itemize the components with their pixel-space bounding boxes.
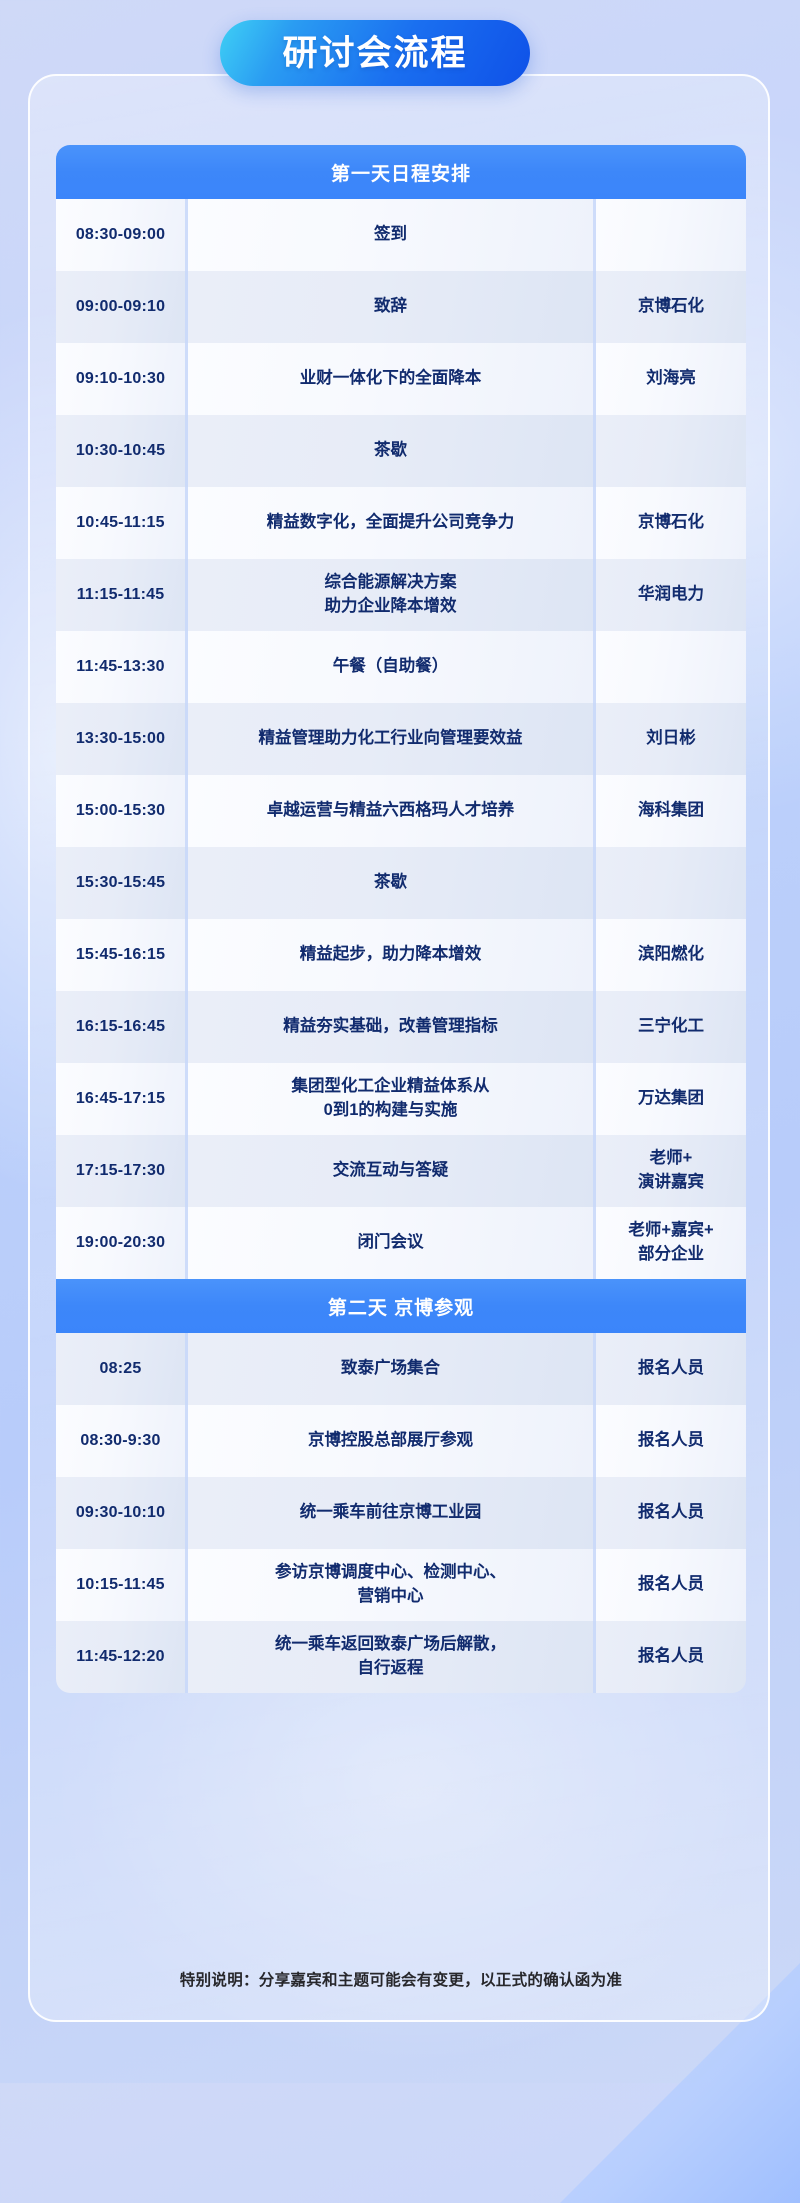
- schedule-table: 第一天日程安排08:30-09:00签到09:00-09:10致辞京博石化09:…: [56, 145, 746, 1693]
- cell-topic: 集团型化工企业精益体系从0到1的构建与实施: [188, 1063, 596, 1135]
- cell-speaker: 刘日彬: [596, 703, 746, 775]
- cell-time: 10:15-11:45: [56, 1549, 188, 1621]
- cell-topic: 京博控股总部展厅参观: [188, 1405, 596, 1477]
- cell-time: 19:00-20:30: [56, 1207, 188, 1279]
- cell-time: 09:00-09:10: [56, 271, 188, 343]
- cell-time: 09:30-10:10: [56, 1477, 188, 1549]
- cell-speaker: 三宁化工: [596, 991, 746, 1063]
- cell-topic: 闭门会议: [188, 1207, 596, 1279]
- cell-time: 15:30-15:45: [56, 847, 188, 919]
- table-row: 15:00-15:30卓越运营与精益六西格玛人才培养海科集团: [56, 775, 746, 847]
- cell-time: 10:30-10:45: [56, 415, 188, 487]
- cell-time: 09:10-10:30: [56, 343, 188, 415]
- footnote: 特别说明：分享嘉宾和主题可能会有变更，以正式的确认函为准: [56, 1968, 746, 1990]
- cell-topic: 统一乘车返回致泰广场后解散，自行返程: [188, 1621, 596, 1693]
- cell-time: 16:15-16:45: [56, 991, 188, 1063]
- table-row: 08:30-9:30京博控股总部展厅参观报名人员: [56, 1405, 746, 1477]
- cell-topic: 致辞: [188, 271, 596, 343]
- cell-time: 17:15-17:30: [56, 1135, 188, 1207]
- cell-time: 11:15-11:45: [56, 559, 188, 631]
- day-header-label: 第一天日程安排: [56, 145, 746, 199]
- cell-topic: 茶歇: [188, 415, 596, 487]
- cell-time: 15:45-16:15: [56, 919, 188, 991]
- cell-speaker: 万达集团: [596, 1063, 746, 1135]
- cell-speaker: 海科集团: [596, 775, 746, 847]
- table-row: 10:15-11:45参访京博调度中心、检测中心、营销中心报名人员: [56, 1549, 746, 1621]
- table-row: 11:45-13:30午餐（自助餐）: [56, 631, 746, 703]
- cell-time: 11:45-12:20: [56, 1621, 188, 1693]
- cell-topic: 统一乘车前往京博工业园: [188, 1477, 596, 1549]
- cell-speaker: 京博石化: [596, 487, 746, 559]
- cell-topic: 交流互动与答疑: [188, 1135, 596, 1207]
- cell-speaker: 报名人员: [596, 1333, 746, 1405]
- cell-speaker: 报名人员: [596, 1405, 746, 1477]
- table-row: 09:00-09:10致辞京博石化: [56, 271, 746, 343]
- cell-topic: 午餐（自助餐）: [188, 631, 596, 703]
- cell-topic: 综合能源解决方案助力企业降本增效: [188, 559, 596, 631]
- table-row: 11:45-12:20统一乘车返回致泰广场后解散，自行返程报名人员: [56, 1621, 746, 1693]
- table-row: 08:25致泰广场集合报名人员: [56, 1333, 746, 1405]
- table-row: 09:10-10:30业财一体化下的全面降本刘海亮: [56, 343, 746, 415]
- day-header-row: 第一天日程安排: [56, 145, 746, 199]
- day-header-label: 第二天 京博参观: [56, 1279, 746, 1333]
- cell-speaker: 报名人员: [596, 1621, 746, 1693]
- cell-topic: 精益起步，助力降本增效: [188, 919, 596, 991]
- table-row: 10:30-10:45茶歇: [56, 415, 746, 487]
- cell-speaker: 报名人员: [596, 1549, 746, 1621]
- cell-time: 08:30-09:00: [56, 199, 188, 271]
- table-row: 11:15-11:45综合能源解决方案助力企业降本增效华润电力: [56, 559, 746, 631]
- table-row: 15:45-16:15精益起步，助力降本增效滨阳燃化: [56, 919, 746, 991]
- cell-speaker: [596, 847, 746, 919]
- cell-time: 08:25: [56, 1333, 188, 1405]
- cell-topic: 业财一体化下的全面降本: [188, 343, 596, 415]
- cell-topic: 致泰广场集合: [188, 1333, 596, 1405]
- cell-time: 15:00-15:30: [56, 775, 188, 847]
- cell-time: 11:45-13:30: [56, 631, 188, 703]
- day-header-row: 第二天 京博参观: [56, 1279, 746, 1333]
- cell-topic: 参访京博调度中心、检测中心、营销中心: [188, 1549, 596, 1621]
- cell-speaker: 华润电力: [596, 559, 746, 631]
- cell-topic: 精益夯实基础，改善管理指标: [188, 991, 596, 1063]
- cell-speaker: 报名人员: [596, 1477, 746, 1549]
- cell-time: 13:30-15:00: [56, 703, 188, 775]
- cell-topic: 茶歇: [188, 847, 596, 919]
- table-row: 13:30-15:00精益管理助力化工行业向管理要效益刘日彬: [56, 703, 746, 775]
- schedule-table-body: 第一天日程安排08:30-09:00签到09:00-09:10致辞京博石化09:…: [56, 145, 746, 1693]
- cell-speaker: 京博石化: [596, 271, 746, 343]
- page-title-pill: 研讨会流程: [220, 20, 530, 86]
- cell-topic: 精益数字化，全面提升公司竞争力: [188, 487, 596, 559]
- page-title: 研讨会流程: [282, 36, 467, 71]
- cell-speaker: [596, 199, 746, 271]
- cell-speaker: 滨阳燃化: [596, 919, 746, 991]
- cell-speaker: 老师+演讲嘉宾: [596, 1135, 746, 1207]
- cell-topic: 签到: [188, 199, 596, 271]
- table-row: 15:30-15:45茶歇: [56, 847, 746, 919]
- cell-topic: 卓越运营与精益六西格玛人才培养: [188, 775, 596, 847]
- cell-time: 10:45-11:15: [56, 487, 188, 559]
- table-row: 09:30-10:10统一乘车前往京博工业园报名人员: [56, 1477, 746, 1549]
- cell-time: 16:45-17:15: [56, 1063, 188, 1135]
- cell-speaker: [596, 631, 746, 703]
- cell-speaker: [596, 415, 746, 487]
- table-row: 19:00-20:30闭门会议老师+嘉宾+部分企业: [56, 1207, 746, 1279]
- cell-topic: 精益管理助力化工行业向管理要效益: [188, 703, 596, 775]
- cell-time: 08:30-9:30: [56, 1405, 188, 1477]
- table-row: 10:45-11:15精益数字化，全面提升公司竞争力京博石化: [56, 487, 746, 559]
- table-row: 08:30-09:00签到: [56, 199, 746, 271]
- cell-speaker: 刘海亮: [596, 343, 746, 415]
- table-row: 16:45-17:15集团型化工企业精益体系从0到1的构建与实施万达集团: [56, 1063, 746, 1135]
- table-row: 17:15-17:30交流互动与答疑老师+演讲嘉宾: [56, 1135, 746, 1207]
- table-row: 16:15-16:45精益夯实基础，改善管理指标三宁化工: [56, 991, 746, 1063]
- cell-speaker: 老师+嘉宾+部分企业: [596, 1207, 746, 1279]
